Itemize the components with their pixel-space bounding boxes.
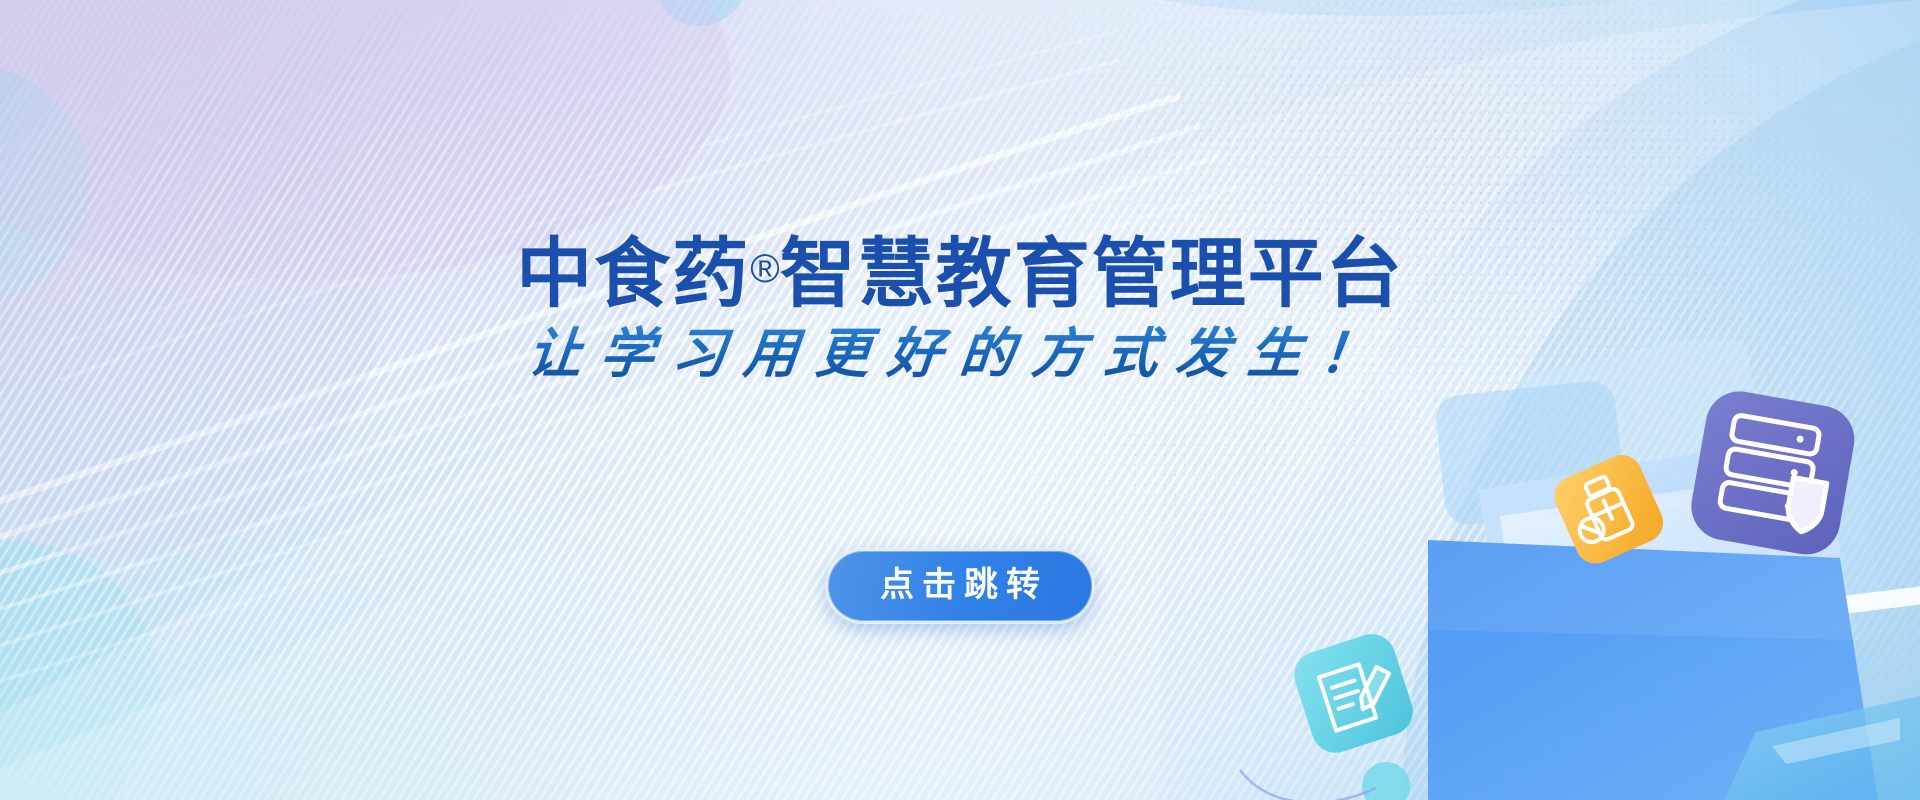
title-brand: 中食药 — [516, 232, 750, 317]
registered-trademark-icon: ® — [750, 247, 779, 291]
banner-content: 中食药®智慧教育管理平台 让学习用更好的方式发生！ 点击跳转 — [0, 0, 1920, 800]
title-suffix: 智慧教育管理平台 — [780, 232, 1404, 317]
jump-button[interactable]: 点击跳转 — [825, 548, 1095, 624]
banner-subtitle: 让学习用更好的方式发生！ — [0, 318, 1920, 390]
hero-banner: 中食药®智慧教育管理平台 让学习用更好的方式发生！ 点击跳转 — [0, 0, 1920, 800]
cta-container: 点击跳转 — [0, 548, 1920, 624]
page-title: 中食药®智慧教育管理平台 — [0, 227, 1920, 317]
